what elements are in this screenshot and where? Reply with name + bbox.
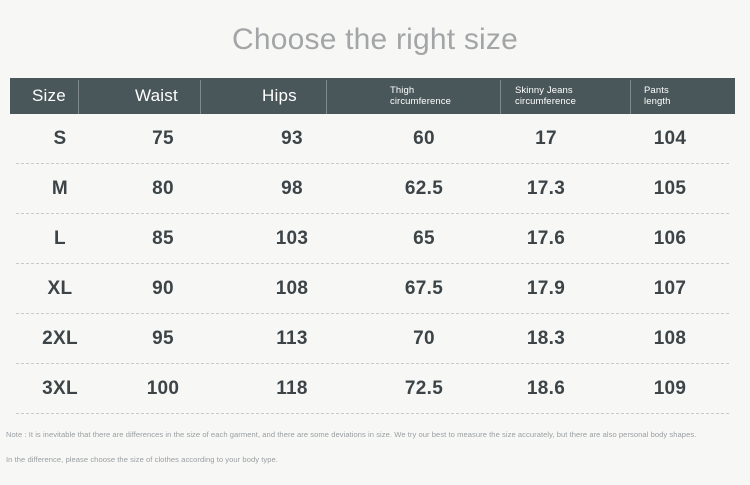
cell-hips: 113 — [248, 314, 336, 364]
cell-waist: 85 — [120, 214, 206, 264]
cell-thigh: 65 — [380, 214, 468, 264]
cell-hips: 118 — [248, 364, 336, 414]
footnote-line-1: Note : It is inevitable that there are d… — [6, 430, 746, 439]
table-row[interactable]: XL 90 108 67.5 17.9 107 — [10, 264, 735, 314]
cell-skinny-jeans: 17.9 — [502, 264, 590, 314]
column-header-pants-length[interactable]: Pants length — [644, 78, 734, 114]
cell-size: S — [20, 114, 100, 164]
cell-skinny-jeans: 17.3 — [502, 164, 590, 214]
cell-waist: 75 — [120, 114, 206, 164]
table-header-row: Size Waist Hips Thigh circumference — [10, 78, 735, 114]
table-row[interactable]: 3XL 100 118 72.5 18.6 109 — [10, 364, 735, 414]
cell-thigh: 67.5 — [380, 264, 468, 314]
column-header-pants-label-line1: Pants — [644, 85, 670, 96]
column-header-thigh-circumference[interactable]: Thigh circumference — [390, 78, 498, 114]
column-header-hips[interactable]: Hips — [262, 78, 326, 114]
size-chart-page: Choose the right size Size Waist Hips — [0, 0, 750, 485]
cell-hips: 108 — [248, 264, 336, 314]
table-row[interactable]: M 80 98 62.5 17.3 105 — [10, 164, 735, 214]
column-header-pants-label-line2: length — [644, 96, 670, 107]
cell-thigh: 70 — [380, 314, 468, 364]
column-header-thigh-label-line2: circumference — [390, 96, 451, 107]
column-header-thigh-label-line1: Thigh — [390, 85, 451, 96]
cell-size: M — [20, 164, 100, 214]
cell-thigh: 60 — [380, 114, 468, 164]
cell-waist: 90 — [120, 264, 206, 314]
header-separator — [630, 80, 631, 114]
table-row[interactable]: 2XL 95 113 70 18.3 108 — [10, 314, 735, 364]
header-separator — [326, 80, 327, 114]
header-separator — [500, 80, 501, 114]
cell-pants-length: 106 — [626, 214, 714, 264]
column-header-hips-label: Hips — [262, 86, 297, 106]
cell-thigh: 62.5 — [380, 164, 468, 214]
row-separator — [16, 413, 729, 414]
footnote-line-2: In the difference, please choose the siz… — [6, 455, 746, 464]
cell-pants-length: 107 — [626, 264, 714, 314]
cell-waist: 80 — [120, 164, 206, 214]
table-body: S 75 93 60 17 104 M 80 98 62.5 17.3 105 … — [10, 114, 735, 414]
cell-skinny-jeans: 18.3 — [502, 314, 590, 364]
cell-skinny-jeans: 17.6 — [502, 214, 590, 264]
cell-hips: 98 — [248, 164, 336, 214]
cell-skinny-jeans: 17 — [502, 114, 590, 164]
column-header-waist-label: Waist — [135, 86, 178, 106]
cell-size: L — [20, 214, 100, 264]
cell-pants-length: 109 — [626, 364, 714, 414]
column-header-waist[interactable]: Waist — [135, 78, 200, 114]
cell-size: XL — [20, 264, 100, 314]
cell-hips: 93 — [248, 114, 336, 164]
column-header-skinny-jeans-label-line1: Skinny Jeans — [515, 85, 576, 96]
header-separator — [200, 80, 201, 114]
cell-size: 2XL — [20, 314, 100, 364]
cell-skinny-jeans: 18.6 — [502, 364, 590, 414]
cell-waist: 100 — [120, 364, 206, 414]
cell-hips: 103 — [248, 214, 336, 264]
cell-pants-length: 105 — [626, 164, 714, 214]
table-row[interactable]: S 75 93 60 17 104 — [10, 114, 735, 164]
cell-pants-length: 108 — [626, 314, 714, 364]
column-header-skinny-jeans-label-line2: circumference — [515, 96, 576, 107]
header-separator — [78, 80, 79, 114]
table-row[interactable]: L 85 103 65 17.6 106 — [10, 214, 735, 264]
cell-size: 3XL — [20, 364, 100, 414]
size-table: Size Waist Hips Thigh circumference — [10, 78, 735, 414]
cell-waist: 95 — [120, 314, 206, 364]
page-title: Choose the right size — [0, 21, 750, 59]
cell-pants-length: 104 — [626, 114, 714, 164]
footnotes: Note : It is inevitable that there are d… — [6, 430, 746, 464]
column-header-size[interactable]: Size — [32, 78, 78, 114]
column-header-size-label: Size — [32, 86, 66, 106]
cell-thigh: 72.5 — [380, 364, 468, 414]
column-header-skinny-jeans-circumference[interactable]: Skinny Jeans circumference — [515, 78, 627, 114]
